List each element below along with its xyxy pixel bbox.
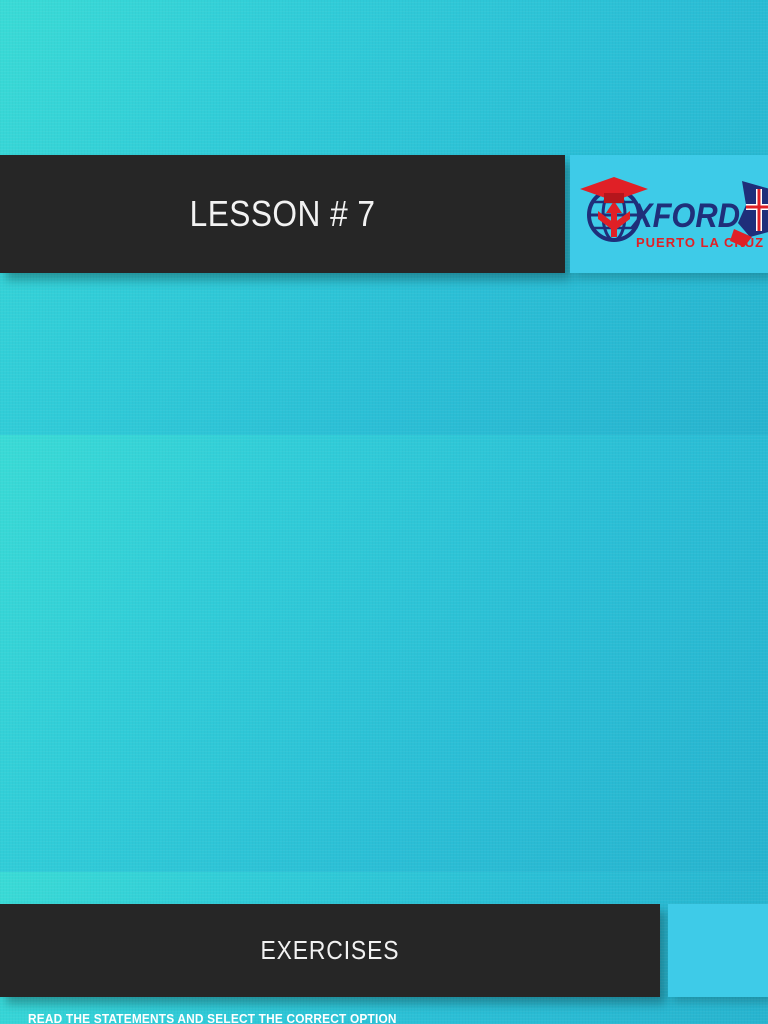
accent-block xyxy=(668,904,768,997)
page-title: LESSON # 7 xyxy=(190,193,376,235)
slide-deck: LESSON # 7 xyxy=(0,0,768,1024)
slide-exercises: EXERCISES READ THE STATEMENTS AND SELECT… xyxy=(0,872,768,1024)
slide-background xyxy=(0,435,768,872)
slide-can-you-help-me: Can you help me? Commands Prohibitions R… xyxy=(0,435,768,872)
exercise-instruction: READ THE STATEMENTS AND SELECT THE CORRE… xyxy=(28,1012,397,1024)
svg-text:XFORD: XFORD xyxy=(630,197,740,235)
oxford-logo-icon: XFORD PUERTO LA CRUZ xyxy=(574,171,768,257)
logo-subtitle: PUERTO LA CRUZ xyxy=(636,235,764,250)
exercises-title-bar: EXERCISES xyxy=(0,904,660,997)
slide-lesson-title: LESSON # 7 xyxy=(0,0,768,435)
logo-panel: XFORD PUERTO LA CRUZ xyxy=(570,155,768,273)
section-title: EXERCISES xyxy=(261,935,400,966)
lesson-title-bar: LESSON # 7 xyxy=(0,155,565,273)
oxford-logo: XFORD PUERTO LA CRUZ xyxy=(574,171,768,257)
